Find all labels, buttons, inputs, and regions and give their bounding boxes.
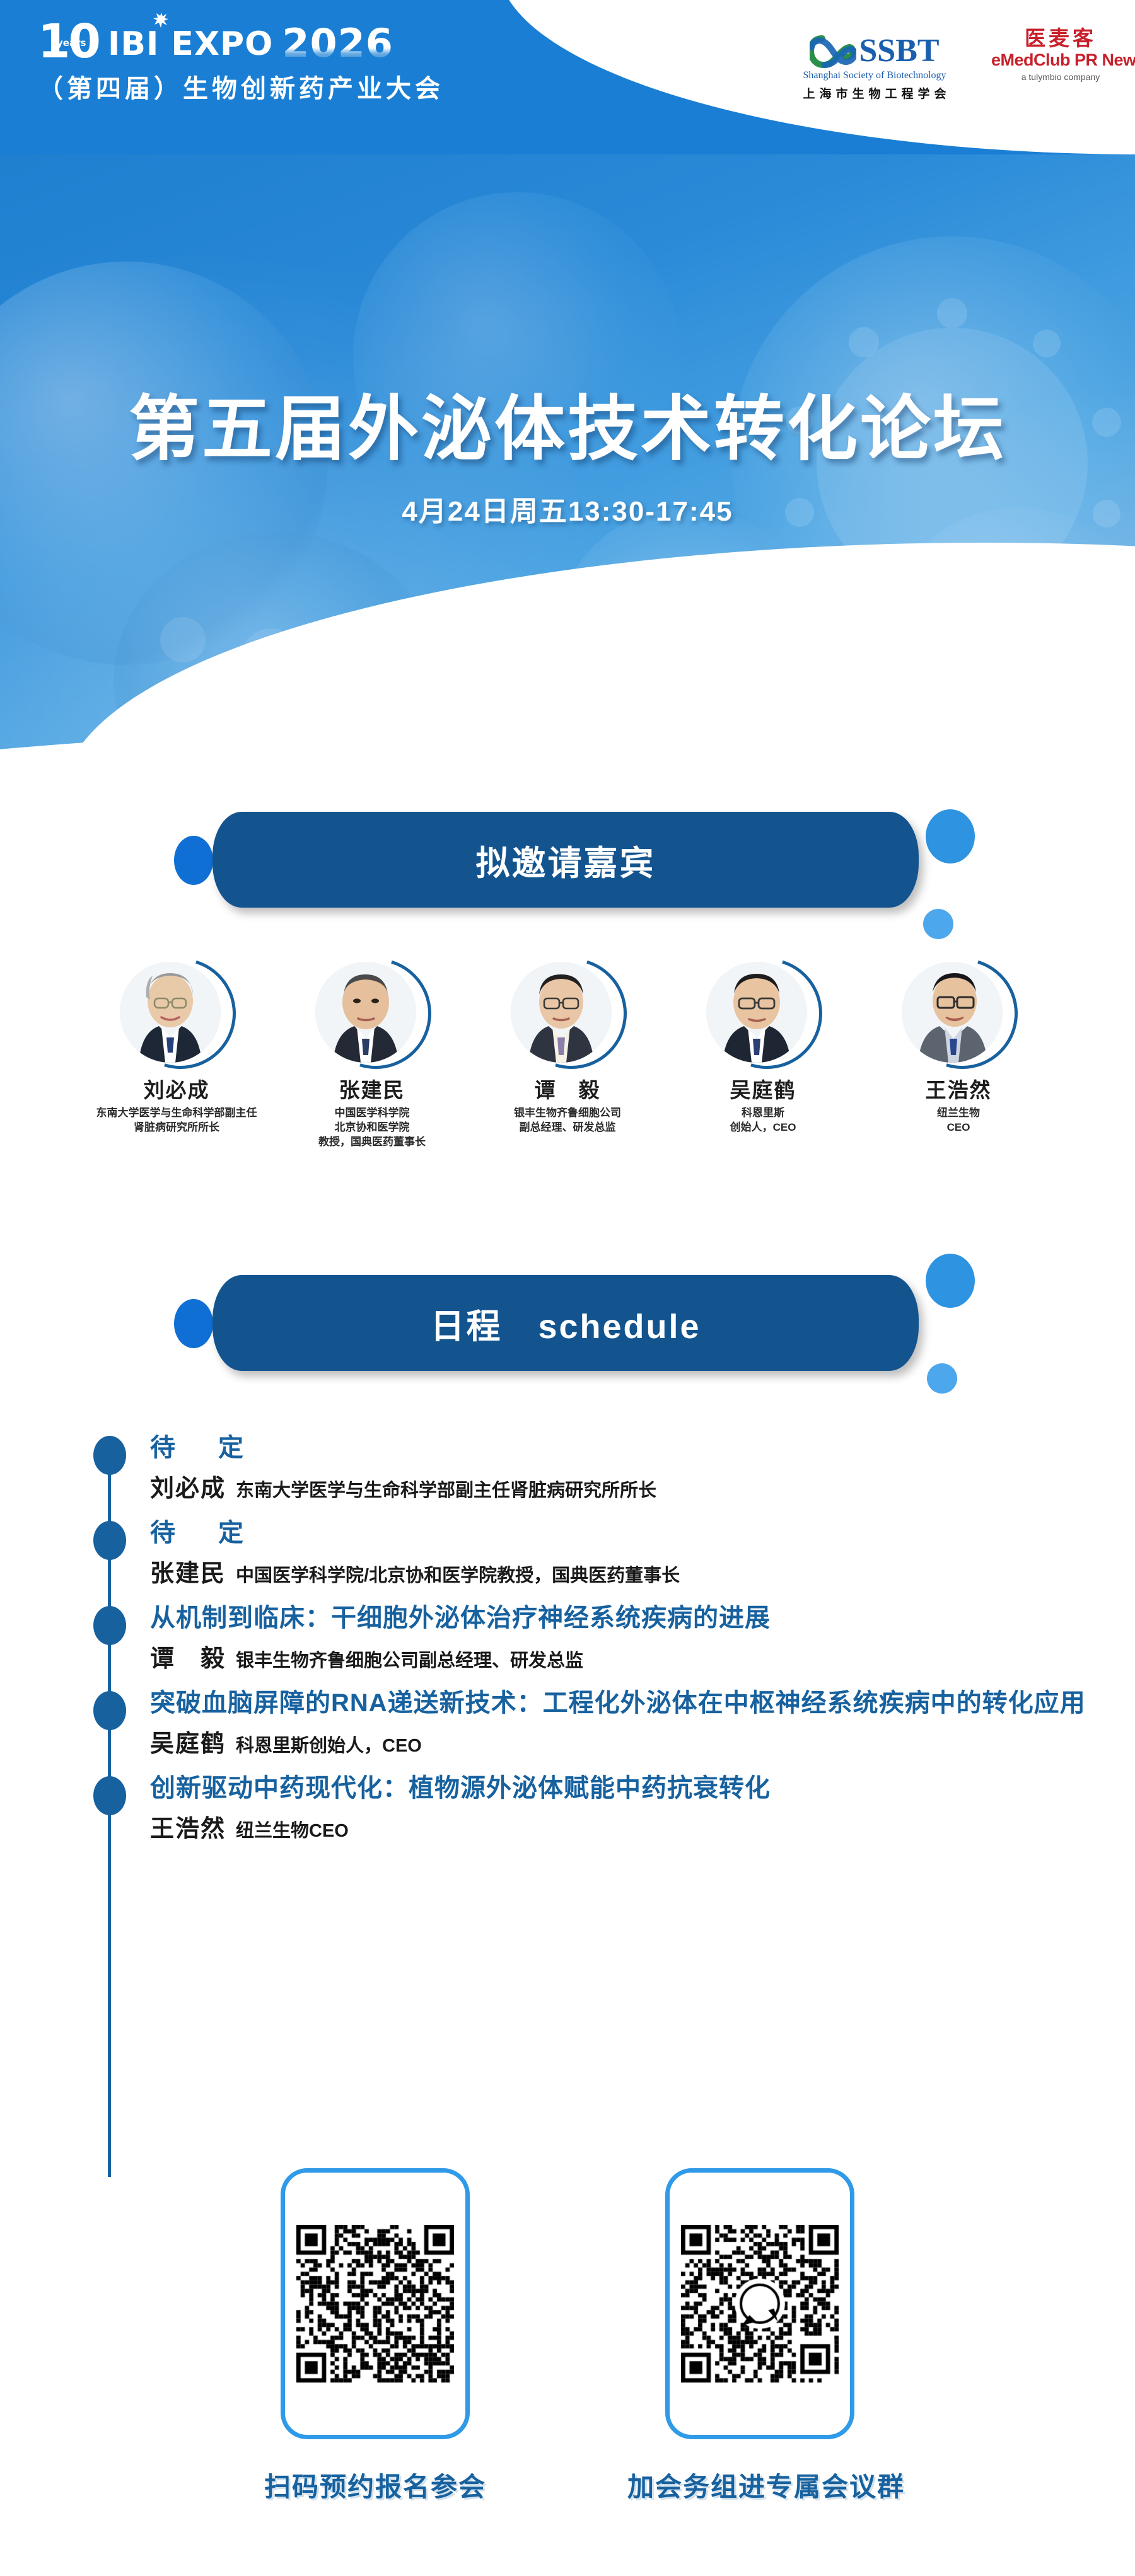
schedule-row: 创新驱动中药现代化：植物源外泌体赋能中药抗衰转化 王浩然 纽兰生物CEO <box>0 1771 1135 1844</box>
speaker-title: 银丰生物齐鲁细胞公司 副总经理、研发总监 <box>482 1106 653 1135</box>
forum-title: 第五届外泌体技术转化论坛 <box>0 372 1135 474</box>
session-speaker-affiliation: 中国医学科学院/北京协和医学院教授，国典医药董事长 <box>236 1561 680 1587</box>
session-presenter: 吴庭鹤 科恩里斯创始人，CEO <box>150 1724 1135 1759</box>
speaker-title: 纽兰生物 CEO <box>873 1106 1044 1135</box>
session-topic: 从机制到临床：干细胞外泌体治疗神经系统疾病的进展 <box>150 1601 1135 1635</box>
ssbt-chinese-name: 上海市生物工程学会 <box>771 84 979 101</box>
decorative-dot <box>174 836 213 885</box>
qr-code-section: 扫码预约报名参会 加会务组进专属会议群 <box>0 2168 1135 2504</box>
session-topic: 突破血脑屏障的RNA递送新技术：工程化外泌体在中枢神经系统疾病中的转化应用 <box>150 1686 1135 1720</box>
session-speaker-affiliation: 纽兰生物CEO <box>236 1816 349 1842</box>
schedule-row: 从机制到临床：干细胞外泌体治疗神经系统疾病的进展 谭 毅 银丰生物齐鲁细胞公司副… <box>0 1601 1135 1673</box>
speaker-name: 张建民 <box>287 1078 457 1103</box>
speaker-avatar <box>902 958 1015 1071</box>
schedule-row: 待 定 张建民 中国医学科学院/北京协和医学院教授，国典医药董事长 <box>0 1516 1135 1588</box>
timeline-bullet-icon <box>93 1436 126 1475</box>
speaker-title-line: 肾脏病研究所所长 <box>91 1120 262 1135</box>
decorative-dot <box>927 1363 957 1394</box>
qr-block-wechat-group: 加会务组进专属会议群 <box>627 2168 892 2504</box>
schedule-row: 突破血脑屏障的RNA递送新技术：工程化外泌体在中枢神经系统疾病中的转化应用 吴庭… <box>0 1686 1135 1759</box>
session-topic: 待 定 <box>150 1516 1135 1550</box>
timeline-bullet-icon <box>93 1606 126 1645</box>
speaker-title: 中国医学科学院 北京协和医学院 教授，国典医药董事长 <box>287 1106 457 1149</box>
avatar-ring-decoration <box>105 939 255 1089</box>
speaker-name: 王浩然 <box>873 1078 1044 1103</box>
session-speaker-name: 王浩然 <box>150 1809 226 1844</box>
expo-subtitle: （第四届）生物创新药产业大会 <box>38 68 429 105</box>
speaker-title-line: CEO <box>873 1120 1044 1135</box>
speaker-title-line: 银丰生物齐鲁细胞公司 <box>482 1106 653 1120</box>
speaker-title-line: 北京协和医学院 <box>287 1120 457 1135</box>
wechat-group-qr-icon[interactable] <box>681 2225 839 2383</box>
speaker-avatar <box>120 958 233 1071</box>
session-speaker-name: 吴庭鹤 <box>150 1724 226 1759</box>
timeline-bullet-icon <box>93 1776 126 1815</box>
speaker-card: 王浩然 纽兰生物 CEO <box>873 958 1044 1223</box>
page-header: 10 years IBI EXPO 2026 （第四届）生物创新药产业大会 SS… <box>0 0 1135 154</box>
session-speaker-name: 谭 毅 <box>150 1639 226 1673</box>
emedclub-logo: 医麦客 eMedClub PR News a tulymbio company <box>991 26 1130 82</box>
qr-block-registration: 扫码预约报名参会 <box>243 2168 508 2504</box>
schedule-section-banner: 日程 schedule <box>212 1275 919 1371</box>
session-speaker-affiliation: 银丰生物齐鲁细胞公司副总经理、研发总监 <box>236 1646 583 1672</box>
ssbt-infinity-icon <box>810 33 856 69</box>
ssbt-english-name: Shanghai Society of Biotechnology <box>771 70 979 81</box>
avatar-ring-decoration <box>301 939 451 1089</box>
session-presenter: 张建民 中国医学科学院/北京协和医学院教授，国典医药董事长 <box>150 1554 1135 1588</box>
guests-section-banner: 拟邀请嘉宾 <box>212 812 919 908</box>
speaker-card: 吴庭鹤 科恩里斯 创始人，CEO <box>678 958 848 1223</box>
deer-icon <box>153 11 170 29</box>
speaker-title-line: 中国医学科学院 <box>287 1106 457 1120</box>
decorative-dot <box>174 1299 213 1348</box>
speaker-title-line: 纽兰生物 <box>873 1106 1044 1120</box>
session-presenter: 谭 毅 银丰生物齐鲁细胞公司副总经理、研发总监 <box>150 1639 1135 1673</box>
guests-banner-area: 拟邀请嘉宾 <box>0 775 1135 920</box>
emedclub-chinese-name: 医麦客 <box>991 26 1130 50</box>
registration-qr-frame[interactable] <box>281 2168 470 2439</box>
forum-date-time: 4月24日周五13:30-17:45 <box>0 488 1135 529</box>
decorative-dot <box>926 809 975 863</box>
speaker-title-line: 科恩里斯 <box>678 1106 848 1120</box>
emedclub-english-name: eMedClub PR News <box>991 50 1130 70</box>
speaker-avatar <box>315 958 429 1071</box>
speaker-name: 吴庭鹤 <box>678 1078 848 1103</box>
speaker-name: 刘必成 <box>91 1078 262 1103</box>
wechat-group-qr-frame[interactable] <box>665 2168 854 2439</box>
session-topic: 创新驱动中药现代化：植物源外泌体赋能中药抗衰转化 <box>150 1771 1135 1805</box>
anniversary-10-mark: 10 years <box>38 21 99 62</box>
session-topic: 待 定 <box>150 1431 1135 1465</box>
timeline-bullet-icon <box>93 1691 126 1730</box>
session-speaker-affiliation: 东南大学医学与生命科学部副主任肾脏病研究所所长 <box>236 1476 656 1502</box>
avatar-ring-decoration <box>496 939 646 1089</box>
guests-banner-label: 拟邀请嘉宾 <box>476 835 656 885</box>
timeline-bullet-icon <box>93 1521 126 1560</box>
session-speaker-affiliation: 科恩里斯创始人，CEO <box>236 1731 422 1757</box>
session-presenter: 王浩然 纽兰生物CEO <box>150 1809 1135 1844</box>
registration-qr-label: 扫码预约报名参会 <box>243 2466 508 2504</box>
schedule-timeline: 待 定 刘必成 东南大学医学与生命科学部副主任肾脏病研究所所长 待 定 张建民 … <box>0 1431 1135 1856</box>
speakers-list: 刘必成 东南大学医学与生命科学部副主任 肾脏病研究所所长 <box>0 958 1135 1223</box>
schedule-banner-area: 日程 schedule <box>0 1239 1135 1383</box>
speaker-card: 刘必成 东南大学医学与生命科学部副主任 肾脏病研究所所长 <box>91 958 262 1223</box>
emedclub-tagline: a tulymbio company <box>991 72 1130 82</box>
avatar-ring-decoration <box>887 939 1037 1089</box>
speaker-title-line: 教授，国典医药董事长 <box>287 1135 457 1149</box>
ibi-expo-text: IBI EXPO <box>108 25 273 63</box>
schedule-row: 待 定 刘必成 东南大学医学与生命科学部副主任肾脏病研究所所长 <box>0 1431 1135 1503</box>
ssbt-logo: SSBT Shanghai Society of Biotechnology 上… <box>771 33 979 101</box>
ibi-expo-wordmark: IBI EXPO <box>108 26 273 62</box>
speaker-title: 科恩里斯 创始人，CEO <box>678 1106 848 1135</box>
session-speaker-name: 刘必成 <box>150 1469 226 1503</box>
registration-qr-icon[interactable] <box>296 2225 454 2383</box>
wechat-group-qr-label: 加会务组进专属会议群 <box>627 2466 892 2504</box>
schedule-banner-label: 日程 schedule <box>430 1298 701 1348</box>
avatar-ring-decoration <box>692 939 842 1089</box>
session-speaker-name: 张建民 <box>150 1554 226 1588</box>
anniversary-years-label: years <box>57 23 86 63</box>
expo-year: 2026 <box>282 25 393 62</box>
ibi-expo-logo: 10 years IBI EXPO 2026 （第四届）生物创新药产业大会 <box>38 14 429 105</box>
speaker-avatar <box>511 958 624 1071</box>
speaker-card: 谭 毅 银丰生物齐鲁细胞公司 副总经理、研发总监 <box>482 958 653 1223</box>
hero-banner: 第五届外泌体技术转化论坛 4月24日周五13:30-17:45 <box>0 154 1135 823</box>
decorative-dot <box>923 909 953 939</box>
speaker-title: 东南大学医学与生命科学部副主任 肾脏病研究所所长 <box>91 1106 262 1135</box>
decorative-dot <box>926 1254 975 1308</box>
session-presenter: 刘必成 东南大学医学与生命科学部副主任肾脏病研究所所长 <box>150 1469 1135 1503</box>
speaker-title-line: 创始人，CEO <box>678 1120 848 1135</box>
speaker-card: 张建民 中国医学科学院 北京协和医学院 教授，国典医药董事长 <box>287 958 457 1223</box>
ssbt-abbrev: SSBT <box>859 35 939 67</box>
speaker-title-line: 副总经理、研发总监 <box>482 1120 653 1135</box>
speaker-title-line: 东南大学医学与生命科学部副主任 <box>91 1106 262 1120</box>
speaker-name: 谭 毅 <box>482 1078 653 1103</box>
speaker-avatar <box>706 958 820 1071</box>
